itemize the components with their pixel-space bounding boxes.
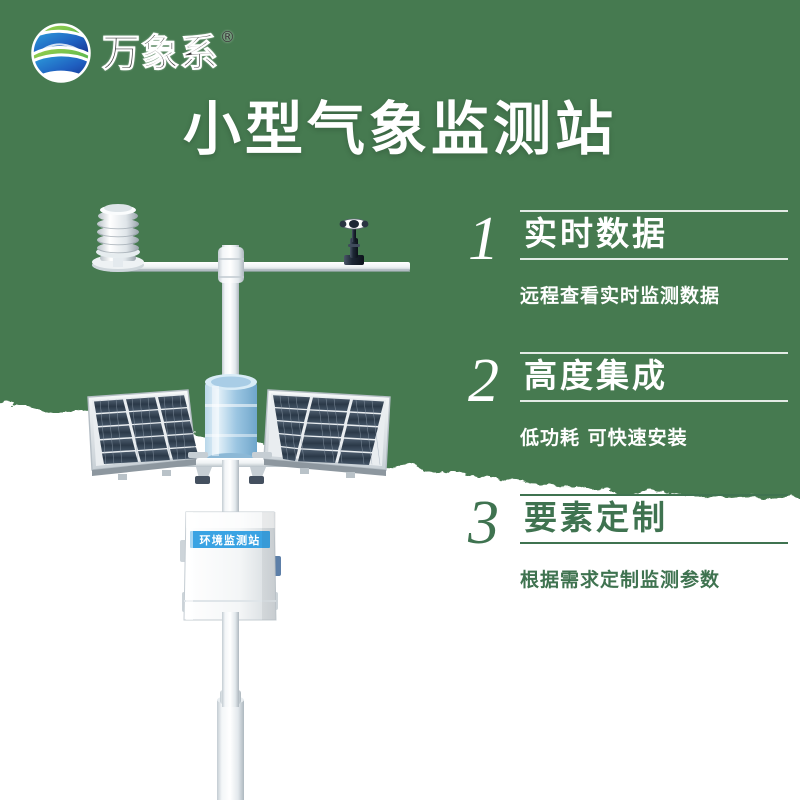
feature-item-1: 1 实时数据 远程查看实时监测数据 <box>468 210 788 308</box>
feature-rule-bottom <box>520 542 788 544</box>
radiation-shield-sensor <box>92 204 144 272</box>
feature-number: 1 <box>468 210 520 268</box>
feature-heading: 实时数据 <box>520 212 788 258</box>
feature-list: 1 实时数据 远程查看实时监测数据 2 高度集成 低功耗 可快速安装 <box>468 210 788 636</box>
feature-rule-bottom <box>520 258 788 260</box>
rain-gauge <box>205 374 257 467</box>
feature-subtitle: 低功耗 可快速安装 <box>468 423 788 450</box>
cabinet-label: 环境监测站 <box>200 533 261 547</box>
feature-item-2: 2 高度集成 低功耗 可快速安装 <box>468 352 788 450</box>
poster-canvas: 万象系® 小型气象监测站 1 实时数据 远程查看实时监测数据 2 高度集成 <box>0 0 800 800</box>
feature-item-3: 3 要素定制 根据需求定制监测参数 <box>468 494 788 592</box>
feature-rule-bottom <box>520 400 788 402</box>
solar-panel-right <box>252 390 390 478</box>
feature-heading: 要素定制 <box>520 496 788 542</box>
control-cabinet: 环境监测站 <box>180 512 281 620</box>
wind-sensor <box>340 219 369 265</box>
feature-subtitle: 根据需求定制监测参数 <box>468 565 788 592</box>
weather-station-product: 环境监测站 <box>0 0 460 800</box>
mast-pole-foot <box>222 612 239 707</box>
feature-subtitle: 远程查看实时监测数据 <box>468 281 788 308</box>
feature-number: 2 <box>468 352 520 410</box>
crossarm <box>110 247 410 283</box>
feature-number: 3 <box>468 494 520 552</box>
feature-heading: 高度集成 <box>520 354 788 400</box>
